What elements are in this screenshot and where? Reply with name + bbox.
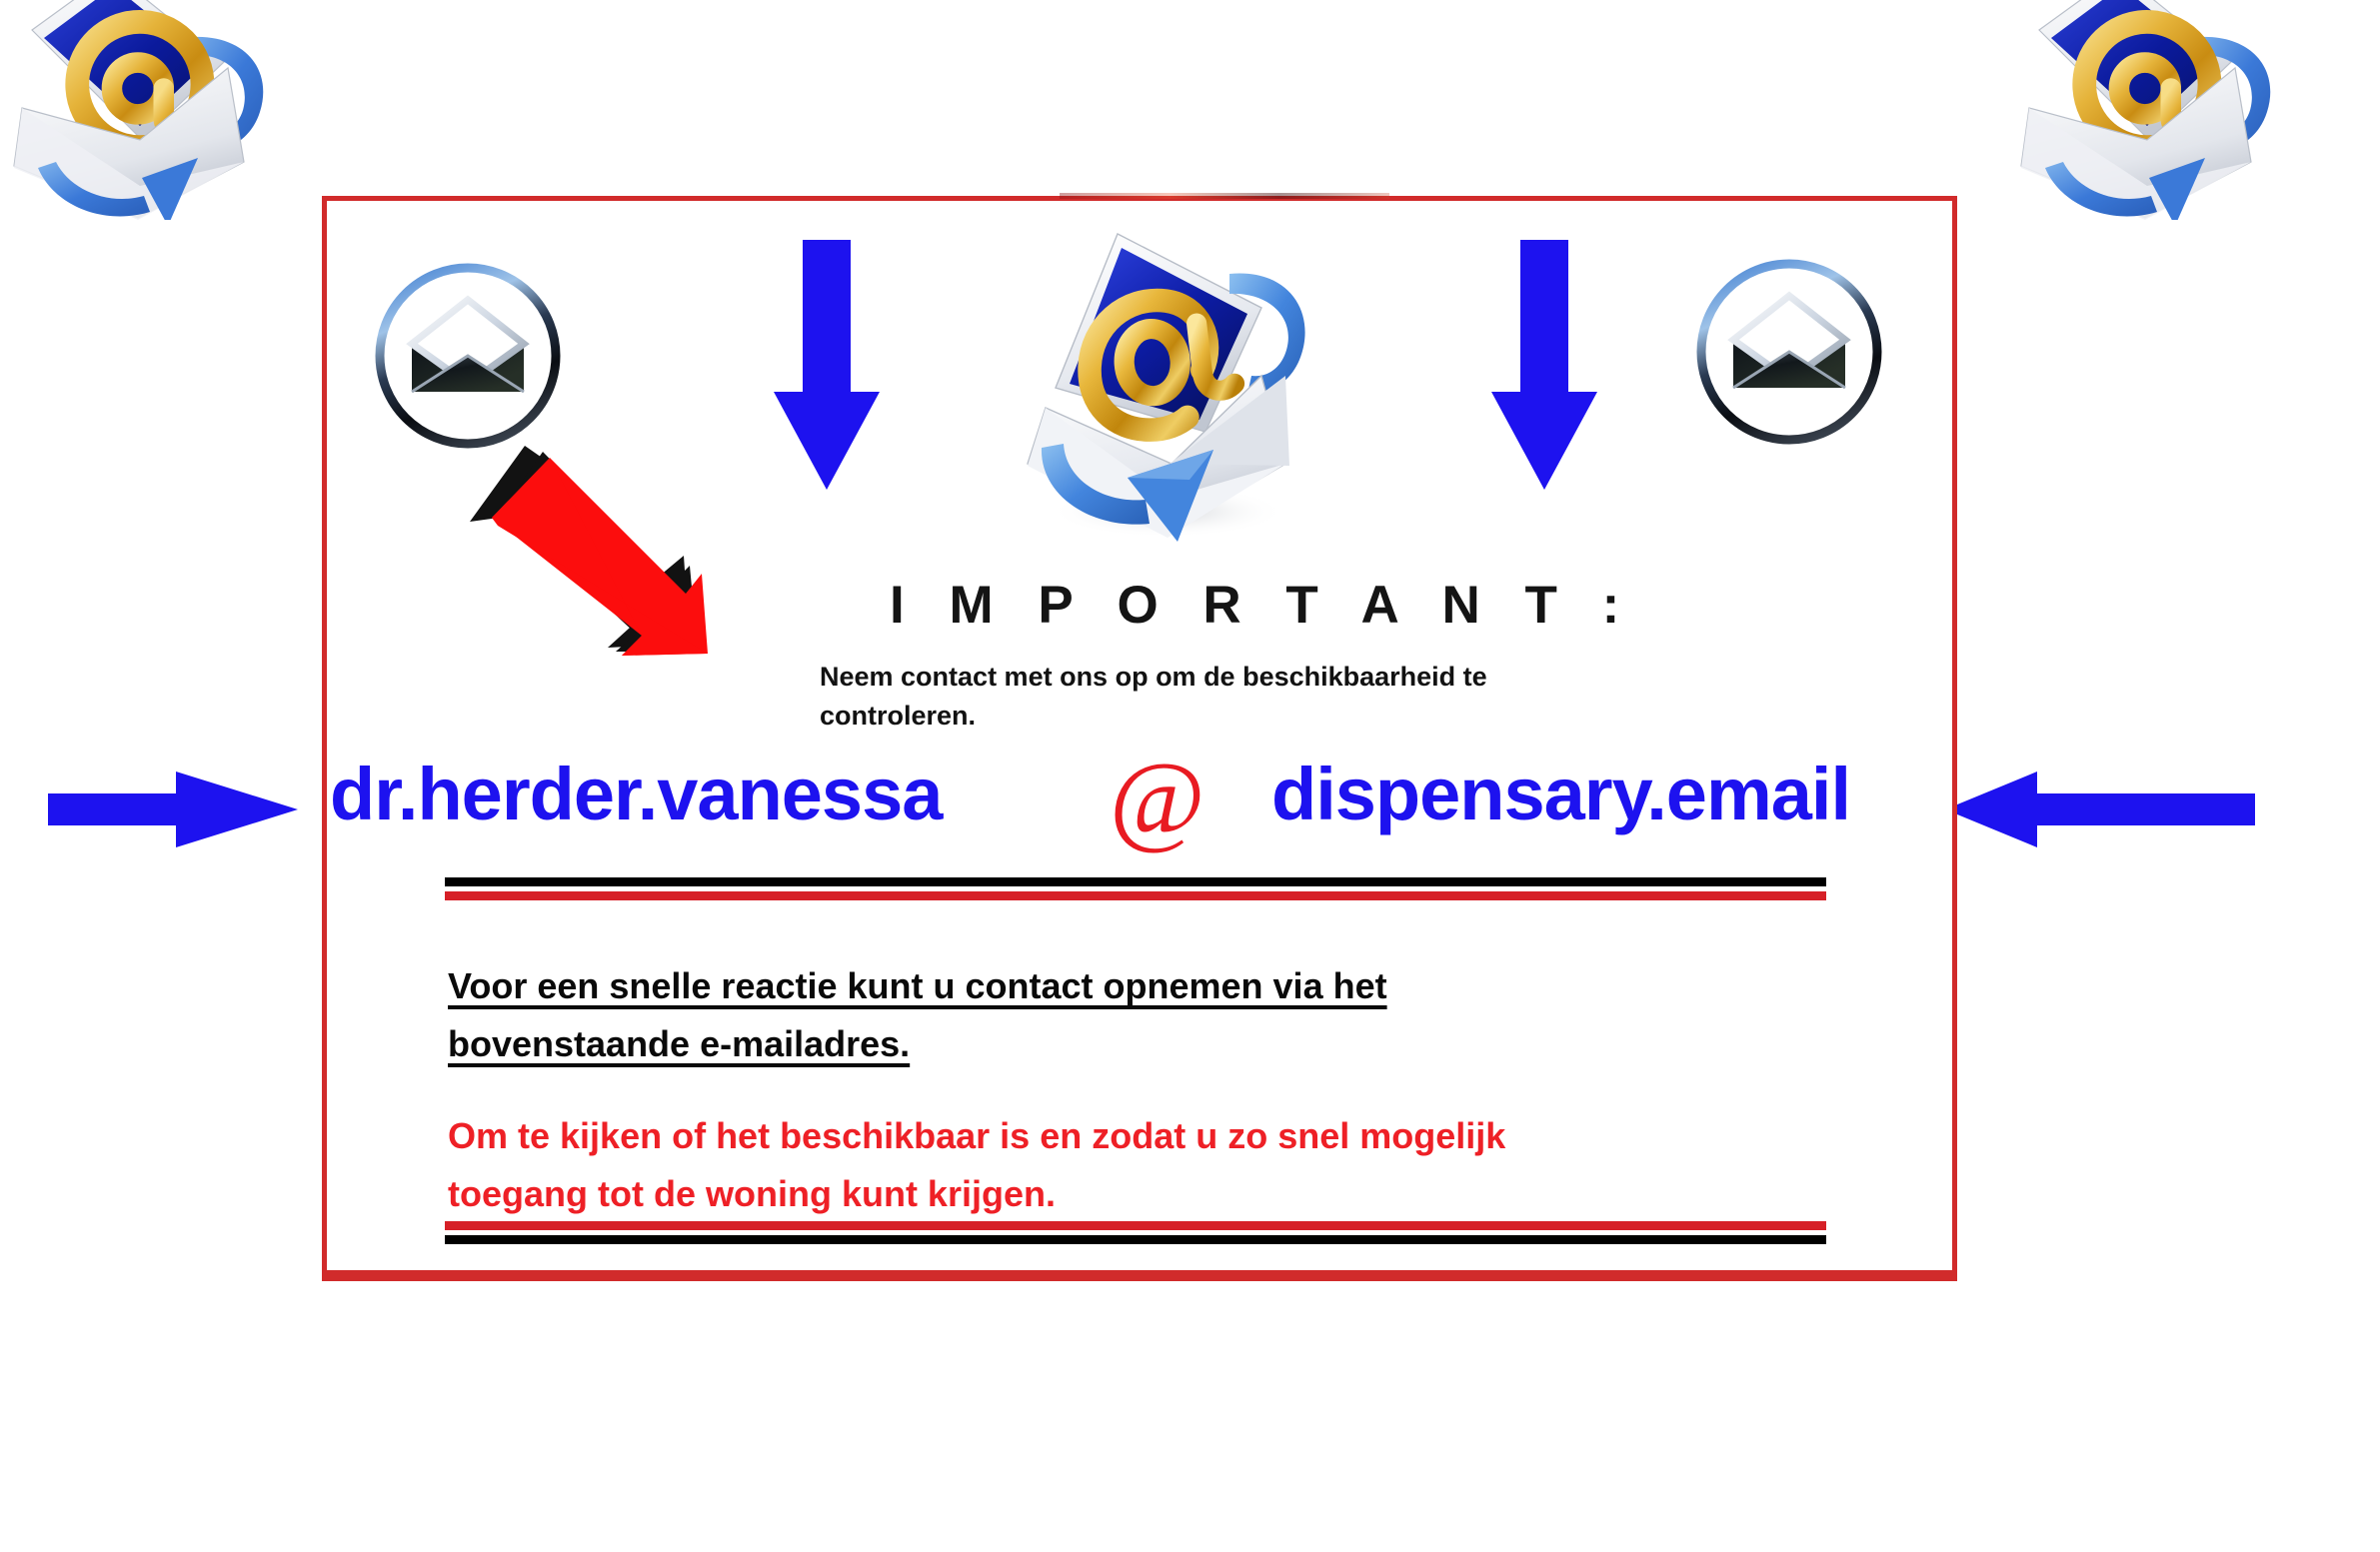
black-note-line-2: bovenstaande e-mailadres.	[448, 1023, 910, 1064]
red-instruction-note: Om te kijken of het beschikbaar is en zo…	[448, 1107, 1647, 1224]
arrow-right-icon-left-side	[48, 770, 298, 849]
envelope-at-clipart-top-right	[1999, 0, 2299, 220]
black-note-line-1: Voor een snelle reactie kunt u contact o…	[448, 965, 1387, 1006]
divider-red-bar	[445, 1221, 1826, 1230]
arrow-left-icon-right-side	[1945, 770, 2255, 849]
divider-black-bar	[445, 1235, 1826, 1244]
divider-black-bar	[445, 877, 1826, 886]
red-note-line-1: Om te kijken of het beschikbaar is en zo…	[448, 1115, 1505, 1156]
envelope-at-clipart-top-left	[0, 0, 292, 220]
arrow-down-icon-left	[772, 240, 882, 490]
divider-red-bar	[445, 891, 1826, 900]
black-instruction-note: Voor een snelle reactie kunt u contact o…	[448, 957, 1627, 1074]
contact-note: Neem contact met ons op om de beschikbaa…	[820, 658, 1619, 736]
circle-mail-icon-left	[368, 256, 568, 456]
page-title: I M P O R T A N T :	[890, 575, 1634, 636]
arrow-down-icon-right	[1489, 240, 1599, 490]
arrow-diagonal-down-right-icon	[440, 438, 740, 688]
envelope-at-clipart-center	[1000, 212, 1319, 552]
circle-mail-icon-right	[1689, 252, 1889, 452]
clipped-text-artifact	[1060, 193, 1389, 199]
divider-bottom	[445, 1221, 1826, 1244]
red-note-line-2: toegang tot de woning kunt krijgen.	[448, 1173, 1056, 1214]
divider-top	[445, 877, 1826, 900]
